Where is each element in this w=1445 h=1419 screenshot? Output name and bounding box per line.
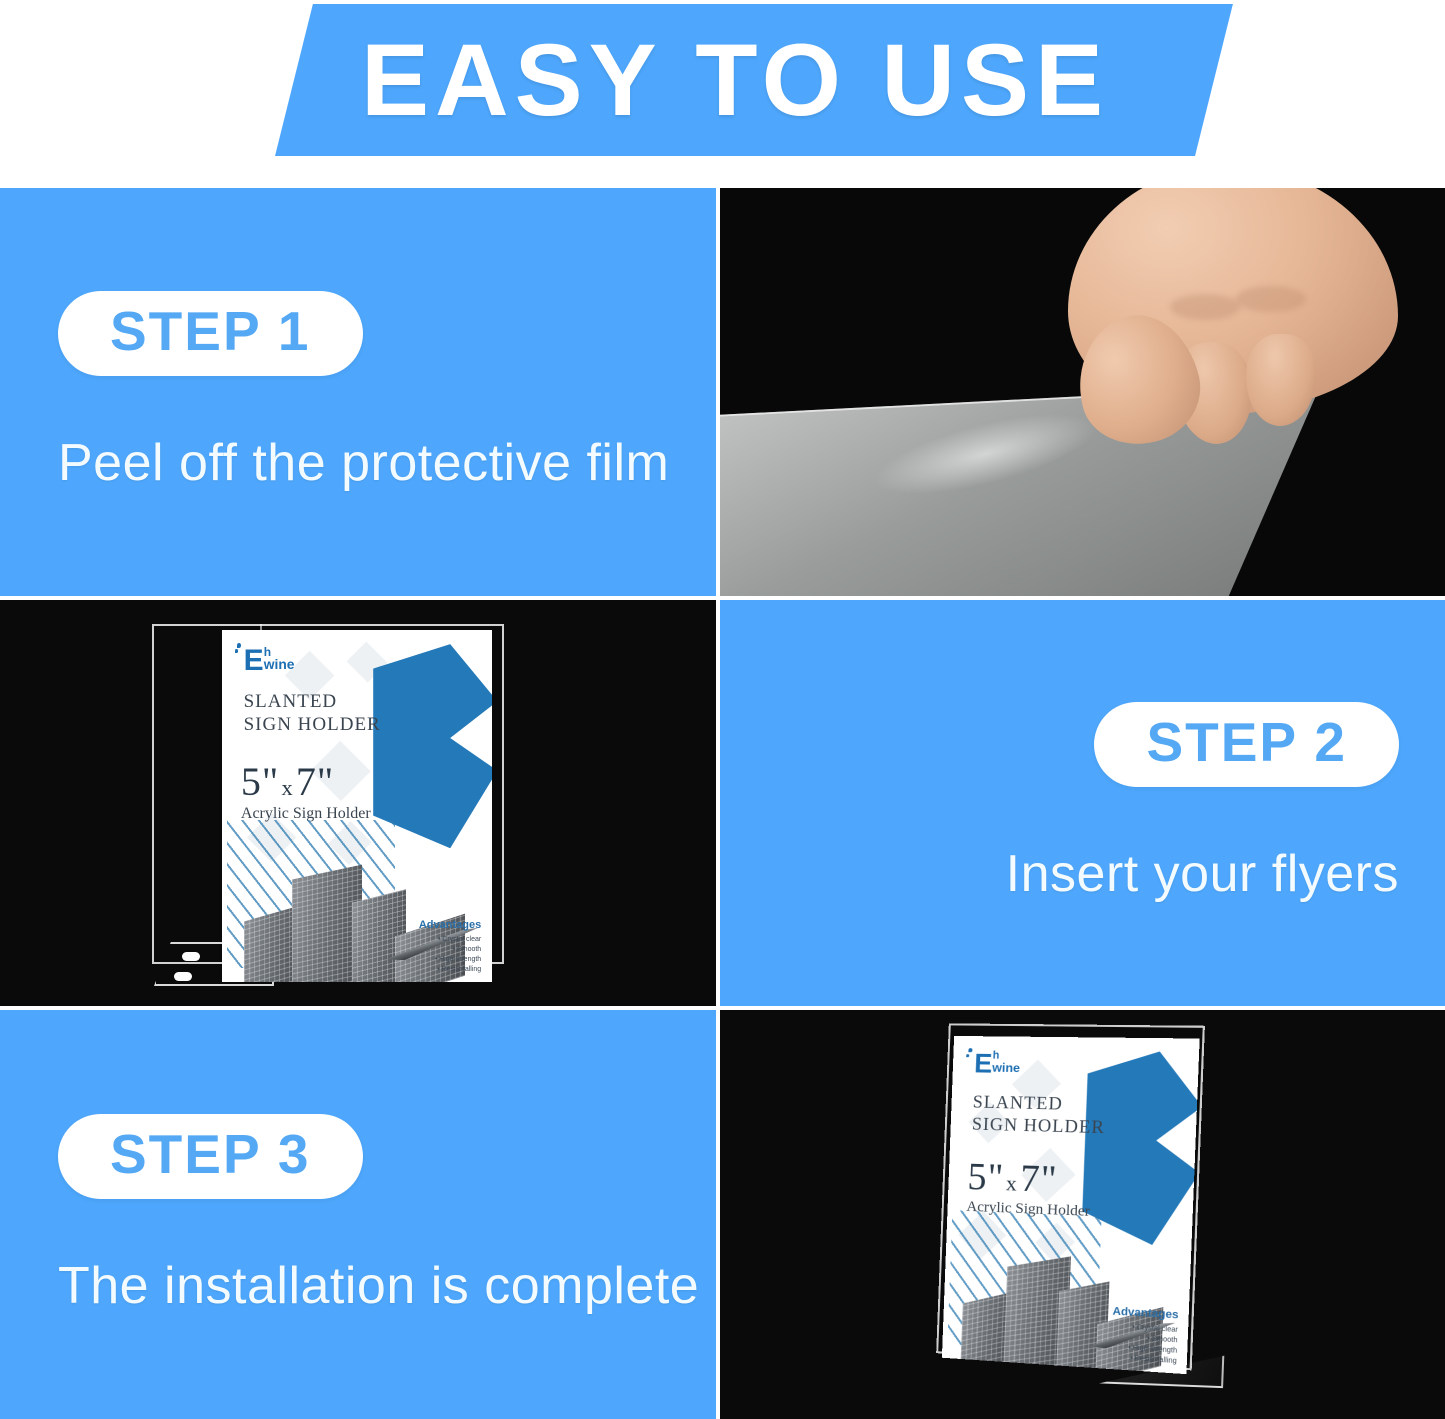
steps-grid: STEP 1 Peel off the protective film xyxy=(0,188,1445,1419)
flyer-advantages-title: Advantages xyxy=(1112,1306,1178,1321)
infographic-root: EASY TO USE STEP 1 Peel off the protecti… xyxy=(0,0,1445,1419)
flyer-chevron-graphic xyxy=(373,644,492,848)
hand-graphic xyxy=(1050,188,1418,496)
hand-finger xyxy=(1244,333,1317,427)
flyer-title-line-1: SLANTED xyxy=(972,1091,1106,1116)
step-2-block: STEP 2 Insert your flyers xyxy=(720,600,1445,1006)
holder-base-slot xyxy=(182,952,200,961)
step-2-caption: Insert your flyers xyxy=(1006,845,1399,903)
logo-wine-text: wine xyxy=(992,1062,1020,1076)
flyer-advantages-list: Crystal clear Smooth High-strength Resis… xyxy=(1111,1322,1178,1367)
list-item: Resist falling xyxy=(419,965,481,975)
header-banner: EASY TO USE xyxy=(0,0,1445,178)
brand-logo: E h wine xyxy=(974,1051,1021,1079)
logo-bubble-icon xyxy=(235,643,245,659)
flyer-title: SLANTED SIGN HOLDER xyxy=(972,1091,1107,1139)
step-1-text-cell: STEP 1 Peel off the protective film xyxy=(0,188,716,596)
step-3-badge: STEP 3 xyxy=(58,1114,363,1199)
flyer-size-width: 5" xyxy=(967,1155,1005,1199)
page-title: EASY TO USE xyxy=(275,4,1195,156)
logo-letter-e: E xyxy=(244,646,263,676)
flyer-title: SLANTED SIGN HOLDER xyxy=(244,690,381,736)
logo-wordmark: h wine xyxy=(264,646,295,672)
hand-knuckle xyxy=(1170,294,1240,320)
list-item: High-strength xyxy=(419,955,481,965)
step-2-text-cell: STEP 2 Insert your flyers xyxy=(720,600,1445,1006)
flyer-advantages: Advantages Crystal clear Smooth High-str… xyxy=(1111,1306,1179,1366)
flyer-size-separator: x xyxy=(279,775,296,800)
flyer-size-height: 7" xyxy=(296,759,334,804)
flyer-size-width: 5" xyxy=(241,759,279,804)
logo-wine-text: wine xyxy=(264,658,295,672)
flyer-size-text: 5"x7" xyxy=(967,1157,1058,1199)
flyer-size-text: 5"x7" xyxy=(241,762,334,802)
flyer-advantages-title: Advantages xyxy=(419,920,481,931)
flyer-advantages-list: Crystal clear Smooth High-strength Resis… xyxy=(419,935,481,975)
logo-bubble-icon xyxy=(966,1048,976,1062)
photo-peel-film: PLEASE TEAR OFF THE PROTECTIVE FILM BEFO… xyxy=(720,188,1445,596)
step-1-caption: Peel off the protective film xyxy=(58,434,669,492)
logo-wordmark: h wine xyxy=(992,1051,1021,1075)
flyer-size-height: 7" xyxy=(1019,1157,1058,1201)
flyer-artwork: E h wine SLANTED SIGN HOLDER 5"x7" Acryl… xyxy=(942,1036,1200,1374)
holder-base-slot xyxy=(174,972,192,981)
list-item: Smooth xyxy=(419,945,481,955)
flyer-artwork: E h wine SLANTED SIGN HOLDER 5"x7" Acryl… xyxy=(222,630,492,982)
step-1-photo-cell: PLEASE TEAR OFF THE PROTECTIVE FILM BEFO… xyxy=(720,188,1445,596)
hand-knuckle xyxy=(1236,286,1306,312)
flyer-title-line-1: SLANTED xyxy=(244,690,381,713)
flyer-advantages: Advantages Crystal clear Smooth High-str… xyxy=(419,920,481,975)
step-1-badge: STEP 1 xyxy=(58,291,363,376)
list-item: Crystal clear xyxy=(419,935,481,945)
step-2-badge: STEP 2 xyxy=(1094,702,1399,787)
flyer-title-line-2: SIGN HOLDER xyxy=(972,1113,1106,1139)
step-2-photo-cell: E h wine SLANTED SIGN HOLDER 5"x7" Acryl… xyxy=(0,600,716,1006)
step-3-text-cell: STEP 3 The installation is complete xyxy=(0,1010,716,1419)
step-3-block: STEP 3 The installation is complete xyxy=(0,1010,716,1419)
flyer-title-line-2: SIGN HOLDER xyxy=(244,713,381,736)
step-1-block: STEP 1 Peel off the protective film xyxy=(0,188,716,596)
step-3-photo-cell: E h wine SLANTED SIGN HOLDER 5"x7" Acryl… xyxy=(720,1010,1445,1419)
product-flyer: E h wine SLANTED SIGN HOLDER 5"x7" Acryl… xyxy=(222,630,492,982)
product-flyer: E h wine SLANTED SIGN HOLDER 5"x7" Acryl… xyxy=(942,1036,1200,1374)
brand-logo: E h wine xyxy=(244,646,295,676)
flyer-size-separator: x xyxy=(1004,1171,1021,1196)
step-3-caption: The installation is complete xyxy=(58,1257,699,1315)
logo-letter-e: E xyxy=(974,1051,992,1078)
